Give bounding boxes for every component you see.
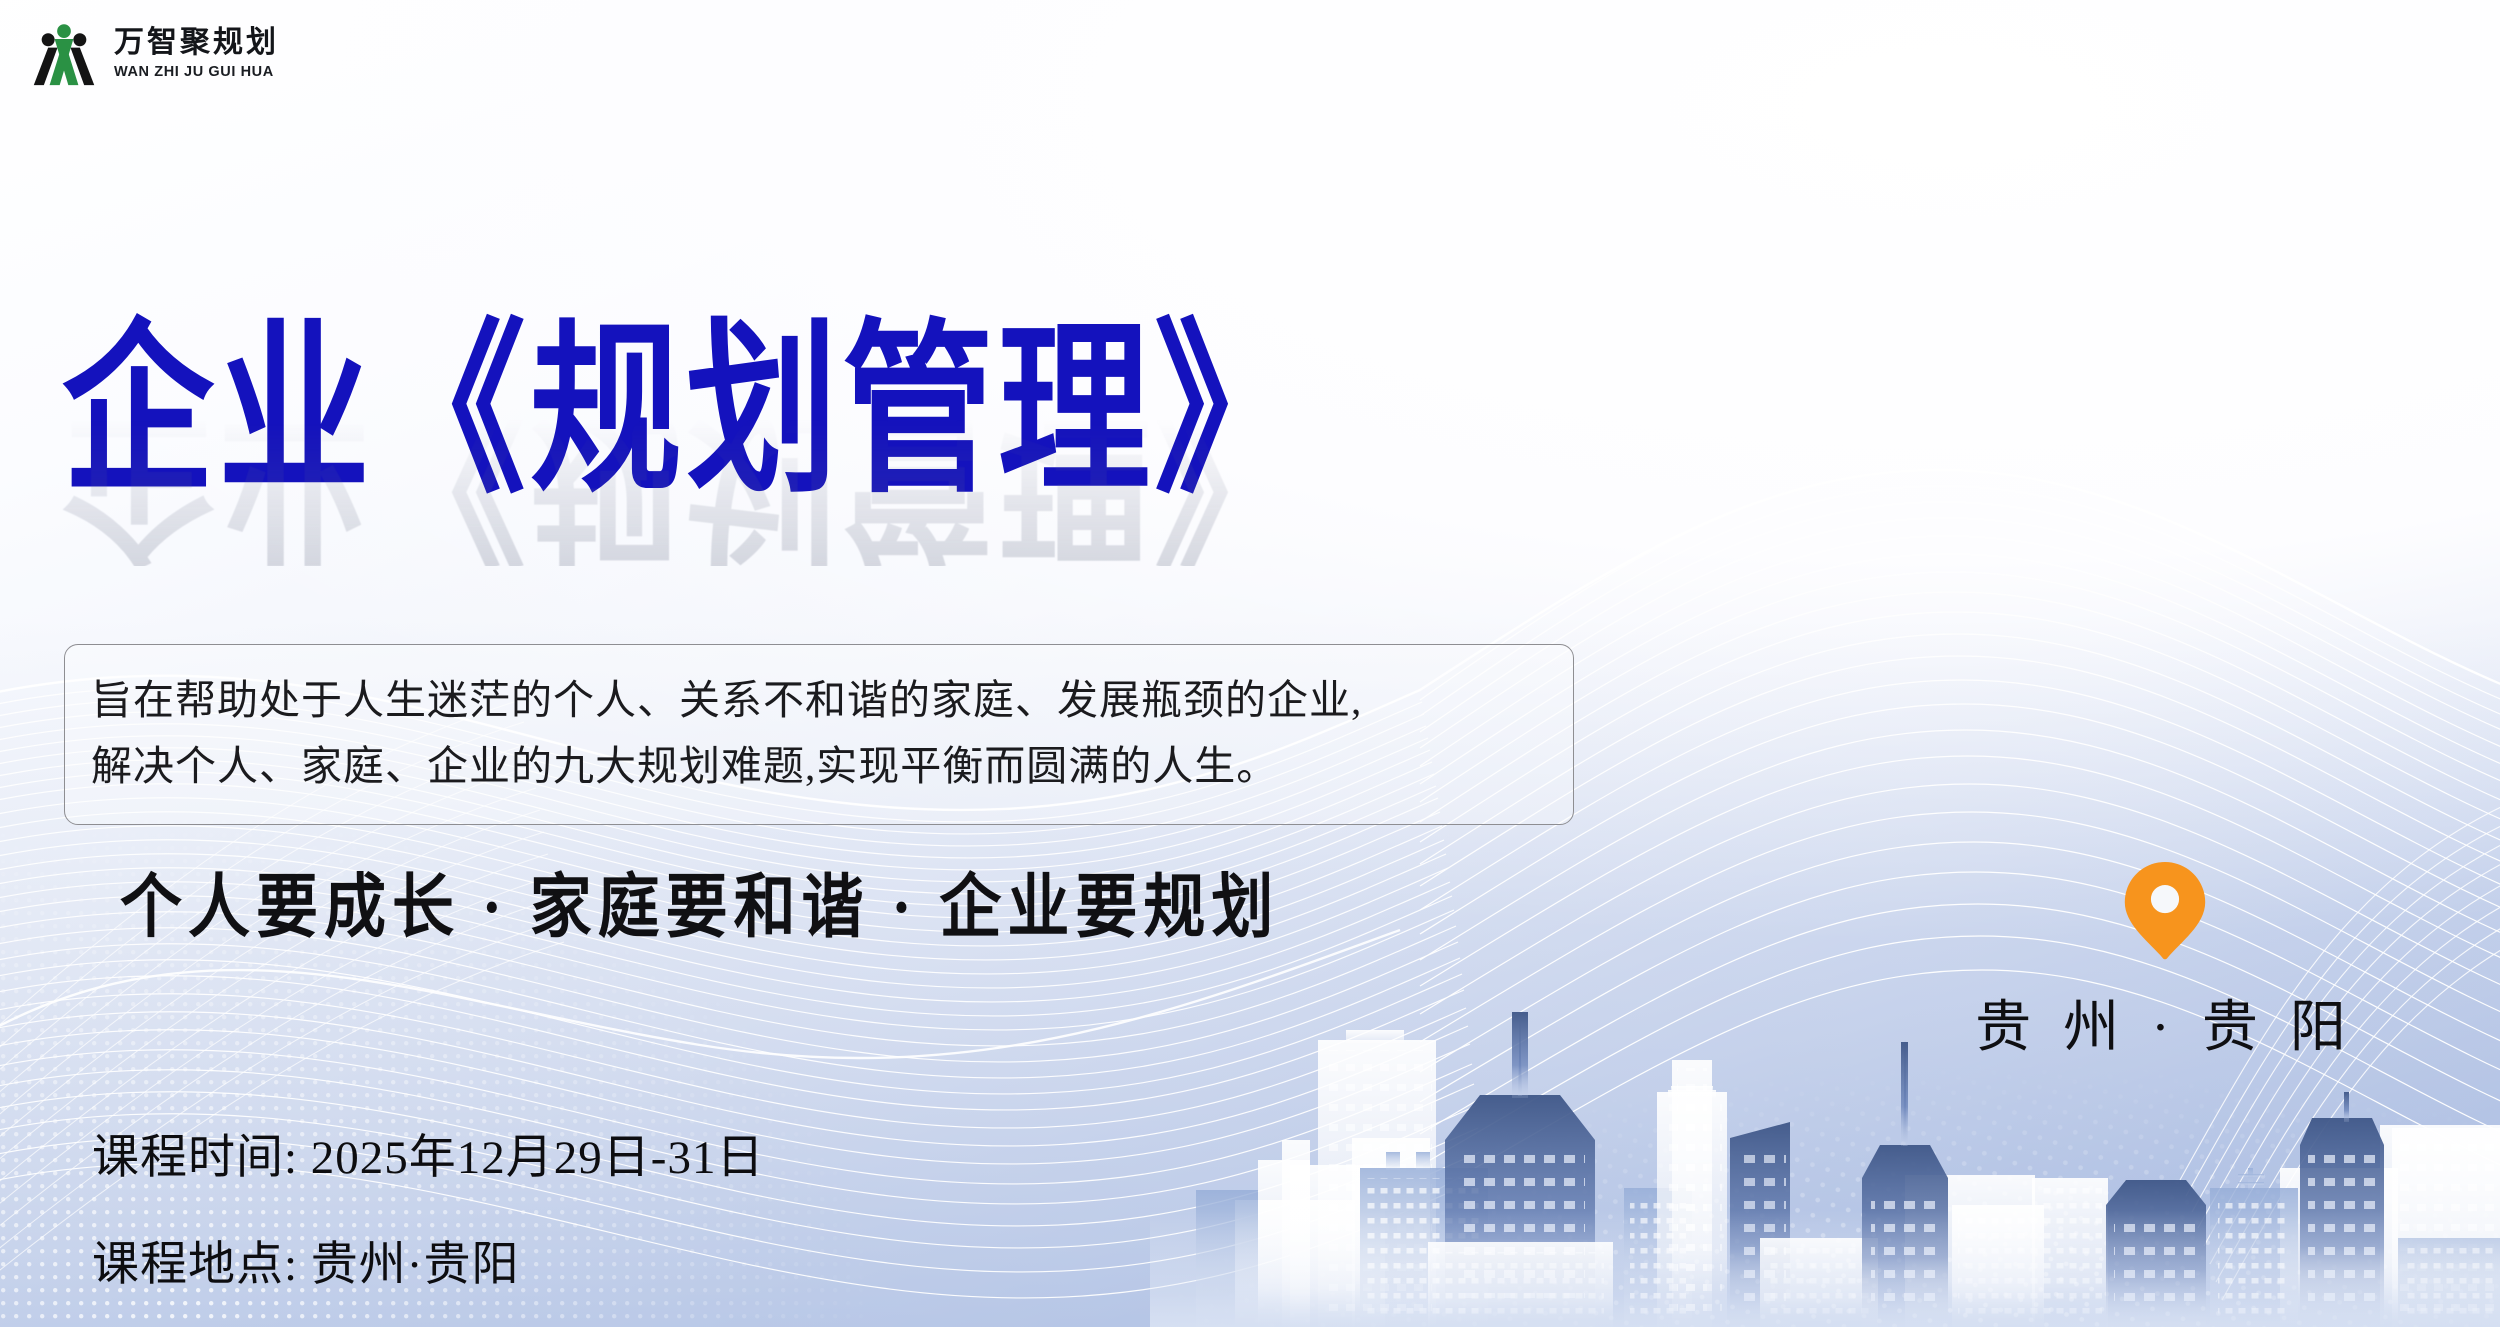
slogan-text: 个人要成长 · 家庭要和谐 · 企业要规划 — [120, 850, 1279, 951]
course-meta: 课程时间: 2025年12月29日-31日 课程地点: 贵州·贵阳 — [92, 1118, 764, 1294]
poster-canvas: 万智聚规划 WAN ZHI JU GUI HUA 企业《规划管理》 企业《规划管… — [0, 0, 2500, 1327]
logo-name-en: WAN ZHI JU GUI HUA — [114, 65, 279, 80]
logo-name-cn: 万智聚规划 — [114, 28, 279, 58]
location-badge: 贵 州 · 贵 阳 — [1955, 862, 2375, 1063]
location-name: 贵 州 · 贵 阳 — [1975, 982, 2355, 1063]
three-people-logo-icon — [28, 16, 100, 88]
description-line-2: 解决个人、家庭、企业的九大规划难题,实现平衡而圆满的人生。 — [91, 733, 1547, 799]
map-pin-icon — [2124, 862, 2206, 960]
course-place-row: 课程地点: 贵州·贵阳 — [92, 1225, 764, 1294]
course-time-row: 课程时间: 2025年12月29日-31日 — [92, 1118, 764, 1187]
description-box: 旨在帮助处于人生迷茫的个人、关系不和谐的家庭、发展瓶颈的企业, 解决个人、家庭、… — [64, 644, 1574, 825]
description-line-1: 旨在帮助处于人生迷茫的个人、关系不和谐的家庭、发展瓶颈的企业, — [91, 667, 1547, 733]
hero-title-zone: 企业《规划管理》 企业《规划管理》 — [62, 318, 1310, 470]
page-title-reflection: 企业《规划管理》 — [62, 406, 1310, 566]
brand-logo[interactable]: 万智聚规划 WAN ZHI JU GUI HUA — [28, 16, 279, 88]
